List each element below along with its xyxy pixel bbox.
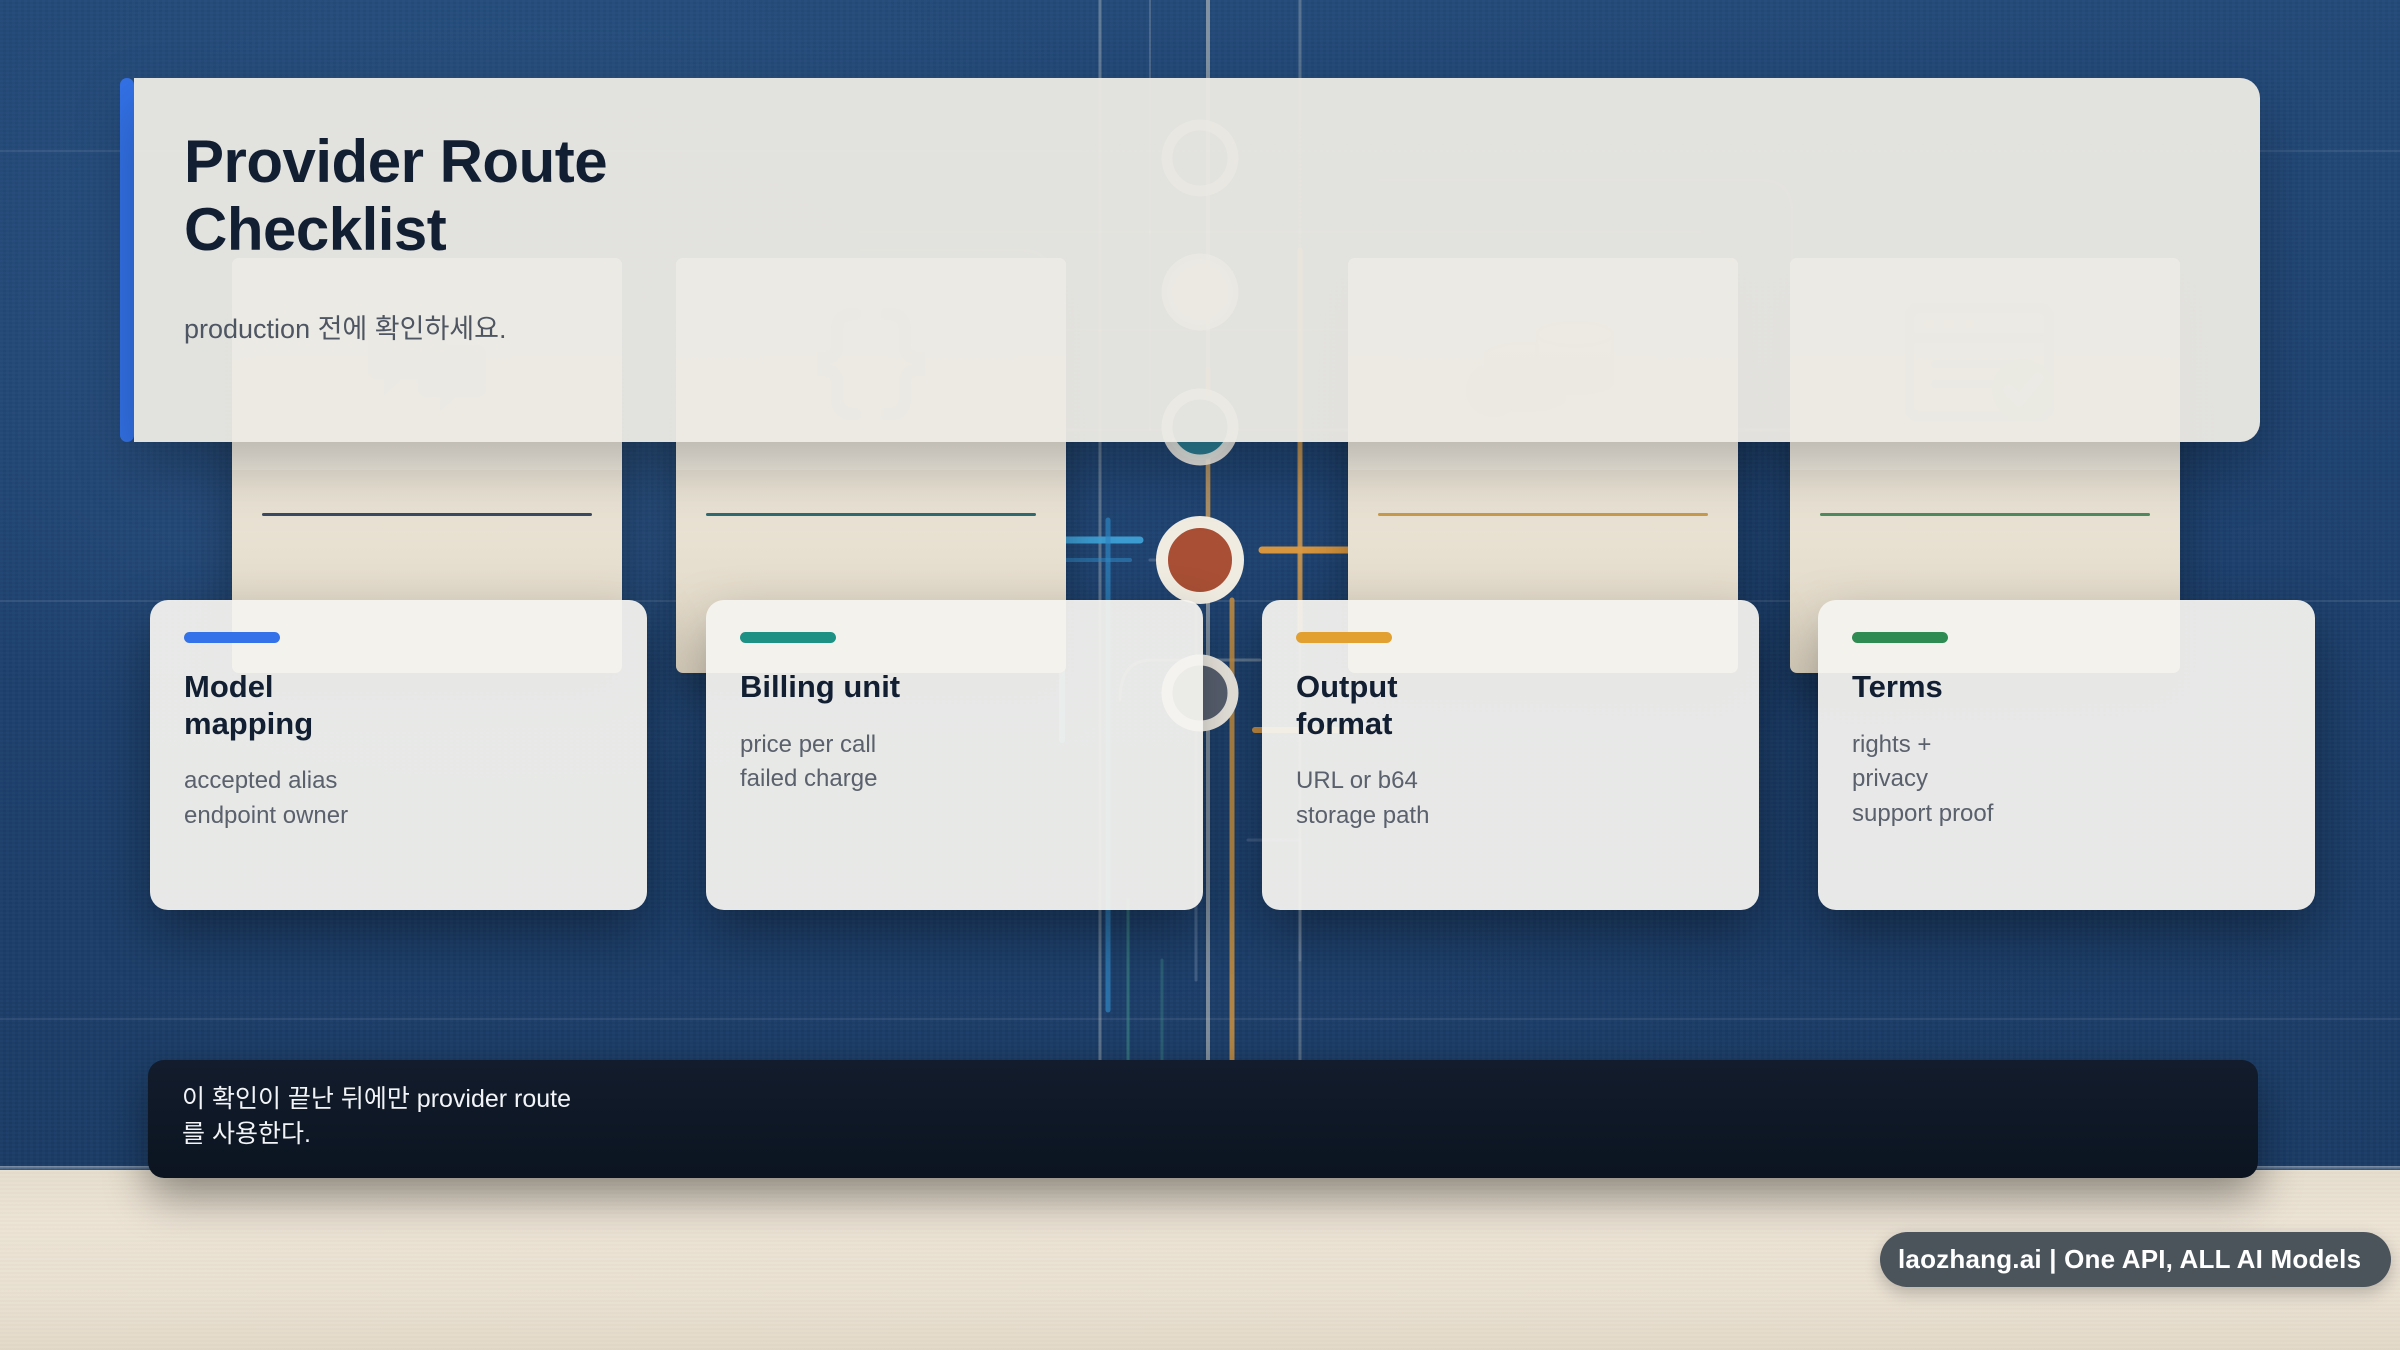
footer-banner: 이 확인이 끝난 뒤에만 provider route 를 사용한다. bbox=[148, 1060, 2258, 1178]
card-body-lines: price per call failed charge bbox=[740, 728, 1169, 798]
card-accent-bar bbox=[1852, 632, 1948, 643]
panel-rule bbox=[706, 513, 1036, 516]
card-accent-bar bbox=[740, 632, 836, 643]
checklist-card-output-format[interactable]: Output format URL or b64 storage path bbox=[1262, 600, 1759, 910]
page-title: Provider Route Checklist bbox=[184, 128, 2200, 265]
card-title: Billing unit bbox=[740, 669, 1169, 706]
header-card: Provider Route Checklist production 전에 확… bbox=[134, 78, 2260, 442]
panel-rule bbox=[1820, 513, 2150, 516]
card-title: Output format bbox=[1296, 669, 1725, 742]
card-accent-bar bbox=[184, 632, 280, 643]
card-accent-bar bbox=[1296, 632, 1392, 643]
slide-canvas: Provider Route Checklist production 전에 확… bbox=[0, 0, 2400, 1350]
watermark-badge: laozhang.ai | One API, ALL AI Models bbox=[1880, 1232, 2391, 1287]
checklist-card-model-mapping[interactable]: Model mapping accepted alias endpoint ow… bbox=[150, 600, 647, 910]
checklist-card-billing-unit[interactable]: Billing unit price per call failed charg… bbox=[706, 600, 1203, 910]
header-accent-bar bbox=[120, 78, 134, 442]
card-body-lines: accepted alias endpoint owner bbox=[184, 764, 613, 834]
page-subtitle: production 전에 확인하세요. bbox=[184, 307, 2200, 346]
panel-rule bbox=[1378, 513, 1708, 516]
panel-rule bbox=[262, 513, 592, 516]
card-title: Terms bbox=[1852, 669, 2281, 706]
card-body-lines: URL or b64 storage path bbox=[1296, 764, 1725, 834]
checklist-card-terms[interactable]: Terms rights + privacy support proof bbox=[1818, 600, 2315, 910]
watermark-label: laozhang.ai | One API, ALL AI Models bbox=[1898, 1244, 2361, 1275]
card-title: Model mapping bbox=[184, 669, 613, 742]
card-body-lines: rights + privacy support proof bbox=[1852, 728, 2281, 832]
